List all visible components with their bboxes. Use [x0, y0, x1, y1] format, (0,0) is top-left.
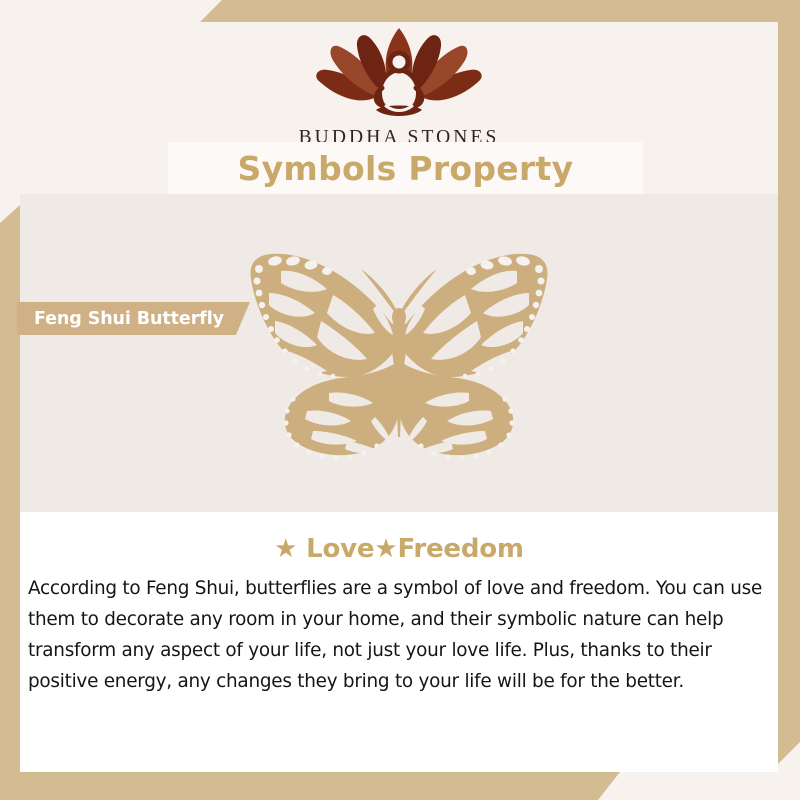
description-paragraph: According to Feng Shui, butterflies are …: [28, 573, 770, 697]
monarch-butterfly-silhouette-icon: [221, 241, 577, 471]
frame-accent-left: [0, 205, 20, 800]
hero-image-area: [20, 194, 778, 512]
frame-accent-bottom: [0, 772, 800, 800]
page-title: Symbols Property: [238, 149, 574, 188]
title-banner: Symbols Property: [168, 142, 643, 194]
lotus-meditation-figure-logo-icon: [304, 26, 494, 126]
frame-accent-top: [0, 0, 800, 22]
status-badge-feng-shui-butterfly: Feng Shui Butterfly: [17, 302, 250, 335]
brand-logo: BUDDHA STONES: [20, 26, 778, 149]
subheading-love-freedom: ★ Love★Freedom: [20, 534, 778, 564]
product-infographic-card: BUDDHA STONES Symbols Property: [0, 0, 800, 800]
tag-label: Feng Shui Butterfly: [34, 309, 224, 329]
card-surface: BUDDHA STONES Symbols Property: [20, 22, 778, 772]
frame-accent-right: [778, 0, 800, 800]
description-panel: ★ Love★Freedom According to Feng Shui, b…: [20, 512, 778, 772]
